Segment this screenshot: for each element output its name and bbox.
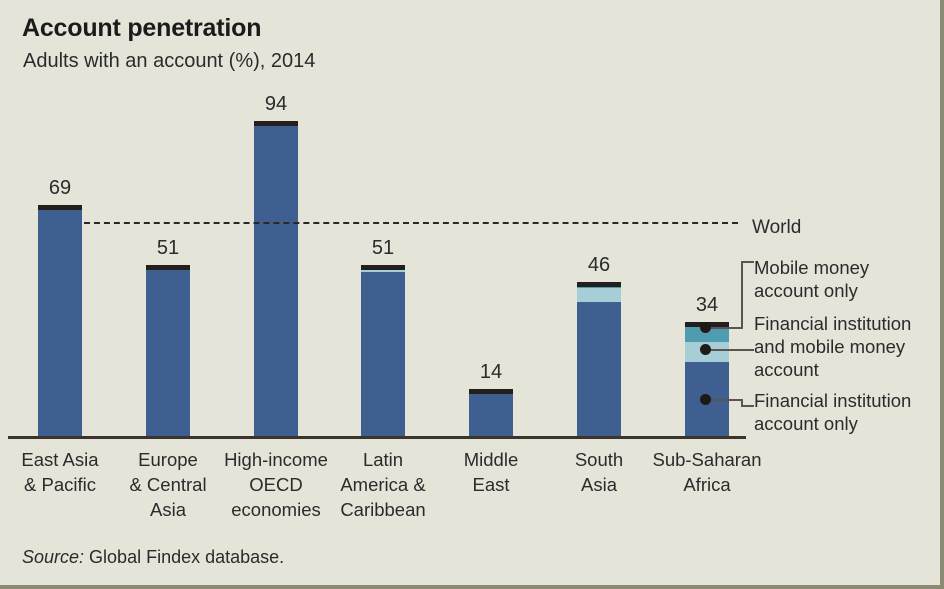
legend-label-line-2: account only bbox=[754, 279, 869, 302]
bar-top-cap bbox=[38, 205, 82, 210]
bar-value-label: 51 bbox=[348, 238, 418, 258]
bar-value-label: 69 bbox=[25, 178, 95, 198]
legend-label-line-2: and mobile money bbox=[754, 335, 911, 358]
bar-value-label: 46 bbox=[564, 255, 634, 275]
bar-value-label: 14 bbox=[456, 362, 526, 382]
bar-sub-saharan-africa bbox=[685, 322, 729, 436]
bar-high-income-oecd-economies bbox=[254, 121, 298, 436]
legend-marker-financial-institution-only bbox=[700, 394, 711, 405]
bar-europe-central-asia bbox=[146, 265, 190, 436]
x-axis-label-line: Africa bbox=[641, 472, 773, 497]
source-prefix: Source: bbox=[22, 547, 84, 567]
legend-label-line-3: account bbox=[754, 358, 911, 381]
legend-item-mobile-money-only: Mobile money account only bbox=[754, 256, 869, 302]
source-text: Global Findex database. bbox=[84, 547, 284, 567]
bar-latin-america-caribbean bbox=[361, 265, 405, 436]
bar-segment-financial-institution-account-only bbox=[361, 272, 405, 436]
bar-segment-financial-institution-account-only bbox=[38, 205, 82, 436]
bar-east-asia-pacific bbox=[38, 205, 82, 436]
bar-top-cap bbox=[146, 265, 190, 270]
bar-segment-financial-institution-and-mobile-money-account bbox=[577, 288, 621, 301]
legend-label-line-2: account only bbox=[754, 412, 911, 435]
bar-value-label: 51 bbox=[133, 238, 203, 258]
figure-bottom-border bbox=[0, 585, 944, 589]
legend-marker-financial-and-mobile bbox=[700, 344, 711, 355]
bar-top-cap bbox=[577, 282, 621, 287]
chart-figure: Account penetration Adults with an accou… bbox=[0, 0, 944, 589]
x-axis-label: Sub-SaharanAfrica bbox=[641, 447, 773, 497]
legend-label-line-1: Mobile money bbox=[754, 256, 869, 279]
figure-right-border bbox=[940, 0, 944, 589]
bar-south-asia bbox=[577, 282, 621, 436]
legend-item-financial-and-mobile: Financial institution and mobile money a… bbox=[754, 312, 911, 381]
bar-value-label: 94 bbox=[241, 94, 311, 114]
legend-label-line-1: Financial institution bbox=[754, 389, 911, 412]
bar-segment-financial-institution-account-only bbox=[577, 302, 621, 436]
bar-middle-east bbox=[469, 389, 513, 436]
legend-item-financial-institution-only: Financial institution account only bbox=[754, 389, 911, 435]
world-reference-label: World bbox=[752, 217, 801, 239]
world-reference-line bbox=[84, 222, 738, 224]
legend-label-line-1: Financial institution bbox=[754, 312, 911, 335]
bar-segment-financial-institution-account-only bbox=[146, 265, 190, 436]
bar-top-cap bbox=[469, 389, 513, 394]
x-axis-label-line: Caribbean bbox=[317, 497, 449, 522]
x-axis-label-line: Sub-Saharan bbox=[641, 447, 773, 472]
x-axis-line bbox=[8, 436, 746, 439]
bar-value-label: 34 bbox=[672, 295, 742, 315]
bar-segment-financial-institution-account-only bbox=[469, 389, 513, 436]
source-note: Source: Global Findex database. bbox=[22, 547, 284, 568]
bar-segment-financial-institution-account-only bbox=[254, 121, 298, 436]
legend-marker-mobile-money-only bbox=[700, 322, 711, 333]
bar-top-cap bbox=[254, 121, 298, 126]
bar-top-cap bbox=[361, 265, 405, 270]
